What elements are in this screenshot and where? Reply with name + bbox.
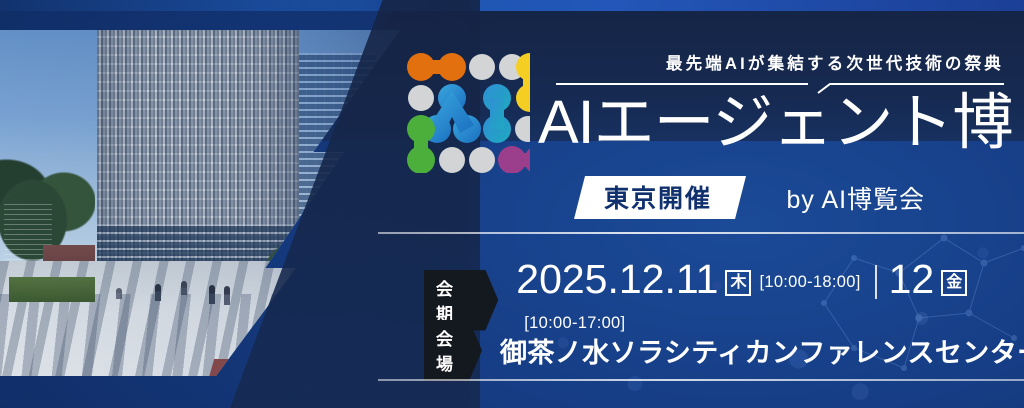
date-day1-dow: 木: [725, 270, 751, 296]
date-day2-dow: 金: [941, 270, 967, 296]
divider-bottom: [378, 379, 1024, 381]
city-badge: 東京開催: [574, 176, 746, 219]
venue-label-tag: 会場: [424, 320, 482, 381]
banner-content: 最先端AIが集結する次世代技術の祭典 AIエージェント博 東京開催 by AI博…: [378, 0, 1024, 408]
date-day2-value: 12: [889, 256, 935, 302]
page-title: AIエージェント博: [538, 92, 1008, 153]
date-day1-value: 2025.12.11: [516, 256, 718, 302]
date-day1-hours: [10:00-18:00]: [759, 274, 860, 291]
divider-above-date: [378, 232, 1024, 234]
badge-row: 東京開催 by AI博覧会: [574, 176, 925, 212]
event-tagline: 最先端AIが集結する次世代技術の祭典: [558, 50, 1004, 74]
venue-name: 御茶ノ水ソラシティカンファレンスセンター2F: [500, 331, 1024, 370]
venue-row: 会場 御茶ノ水ソラシティカンファレンスセンター2F: [424, 320, 1024, 381]
date-separator: [875, 265, 877, 299]
event-banner: 最先端AIが集結する次世代技術の祭典 AIエージェント博 東京開催 by AI博…: [0, 0, 1024, 408]
organizer-label: by AI博覧会: [786, 180, 925, 216]
